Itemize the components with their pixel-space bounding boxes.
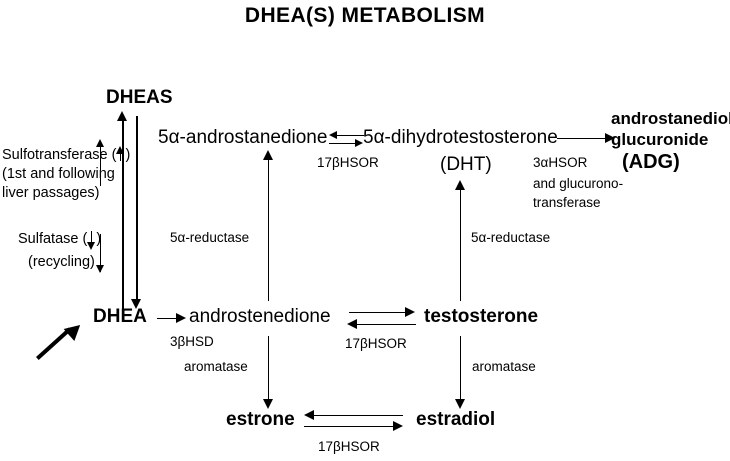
enzyme-glucuronotransferase-line1: and glucurono-	[533, 176, 623, 193]
enzyme-aromatase-left: aromatase	[184, 359, 248, 376]
metabolite-adg-line1: androstanediol	[611, 109, 730, 130]
enzyme-3ahsor: 3αHSOR	[533, 155, 587, 172]
sulfotransferase-label-group: Sulfotransferase ( )	[2, 146, 130, 165]
sulfatase-note: (recycling)	[28, 253, 95, 272]
metabolite-androstanedione: 5α-androstanedione	[158, 128, 327, 148]
enzyme-17bhsor-bottom: 17βHSOR	[318, 439, 380, 456]
metabolite-adg-abbrev: (ADG)	[622, 151, 680, 174]
enzyme-glucuronotransferase-line2: transferase	[533, 195, 601, 212]
sulfotransferase-note-line1: (1st and following	[2, 165, 115, 184]
sulfatase-label-group: Sulfatase ( )	[18, 230, 101, 249]
sulfotransferase-label-close: )	[125, 147, 130, 163]
enzyme-5a-reductase-left: 5α-reductase	[170, 230, 249, 247]
enzyme-17bhsor-middle: 17βHSOR	[345, 336, 407, 353]
sulfotransferase-up-arrow-icon	[116, 147, 125, 161]
sulfotransferase-note-line2: liver passages)	[2, 184, 100, 203]
metabolite-estrone: estrone	[226, 410, 295, 430]
metabolite-dht-abbrev: (DHT)	[440, 155, 492, 175]
metabolite-estradiol: estradiol	[416, 410, 495, 430]
metabolite-adg-line2: glucuronide	[611, 130, 708, 151]
enzyme-3bhsd: 3βHSD	[170, 334, 214, 351]
sulfatase-down-arrow-icon	[87, 231, 96, 245]
sulfatase-label: Sulfatase (	[18, 231, 87, 247]
enzyme-5a-reductase-right: 5α-reductase	[471, 230, 550, 247]
metabolite-dihydrotestosterone: 5α-dihydrotestosterone	[363, 128, 558, 148]
dhea-metabolism-diagram: DHEA(S) METABOLISM Sulfotransferase ( ) …	[0, 0, 730, 461]
page-title: DHEA(S) METABOLISM	[0, 4, 730, 28]
enzyme-17bhsor-top: 17βHSOR	[317, 155, 379, 172]
enzyme-aromatase-right: aromatase	[472, 359, 536, 376]
metabolite-dhea: DHEA	[93, 307, 147, 327]
metabolite-androstenedione: androstenedione	[189, 307, 331, 327]
metabolite-testosterone: testosterone	[424, 307, 538, 327]
metabolite-dheas: DHEAS	[106, 88, 173, 108]
